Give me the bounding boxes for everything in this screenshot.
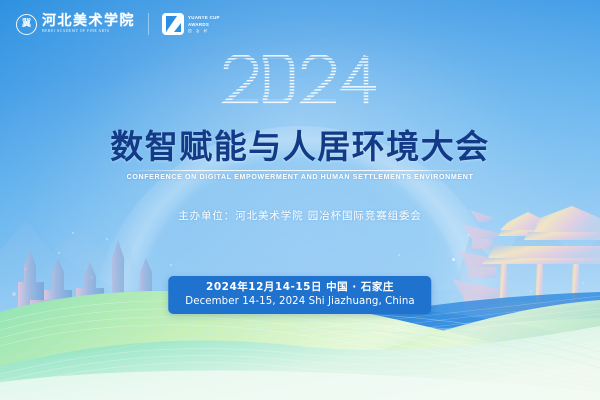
event-date-badge: 2024年12月14-15日 中国 · 石家庄 December 14-15, …: [168, 276, 431, 314]
organizer-line: 主办单位：河北美术学院 园冶杯国际竞赛组委会: [0, 208, 600, 223]
academy-seal-glyph: 冀: [22, 20, 31, 29]
academy-seal-icon: 冀: [16, 14, 37, 35]
subtitle-rule-top: [128, 170, 472, 171]
arc-ring-inner: [135, 150, 465, 400]
yuanye-cup-icon: [162, 13, 184, 35]
logo-bar: 冀 河北美术学院 HEBEI ACADEMY OF FINE ARTS YUAN…: [16, 13, 220, 35]
logo-divider: [148, 13, 149, 35]
competition-name-line2: AWARDS: [188, 22, 220, 27]
competition-name-line1: YUANYE CUP: [188, 15, 220, 20]
year-graphic: [0, 52, 600, 110]
event-date-cn: 2024年12月14-15日 中国 · 石家庄: [185, 281, 414, 295]
competition-logo[interactable]: YUANYE CUP AWARDS 园 冶 杯: [162, 13, 220, 35]
subtitle-block: CONFERENCE ON DIGITAL EMPOWERMENT AND HU…: [0, 170, 600, 181]
year-2024-svg: [220, 52, 380, 110]
conference-banner: 冀 河北美术学院 HEBEI ACADEMY OF FINE ARTS YUAN…: [0, 0, 600, 400]
subtitle-english: CONFERENCE ON DIGITAL EMPOWERMENT AND HU…: [127, 173, 474, 181]
academy-logo[interactable]: 冀 河北美术学院 HEBEI ACADEMY OF FINE ARTS: [16, 14, 135, 35]
academy-name-en: HEBEI ACADEMY OF FINE ARTS: [42, 30, 135, 34]
arc-ring-outer: [90, 126, 510, 400]
event-date-en: December 14-15, 2024 Shi Jiazhuang, Chin…: [185, 295, 414, 308]
page-title: 数智赋能与人居环境大会: [0, 128, 600, 166]
competition-name-cn: 园 冶 杯: [188, 29, 220, 33]
academy-name-cn: 河北美术学院: [42, 14, 135, 29]
